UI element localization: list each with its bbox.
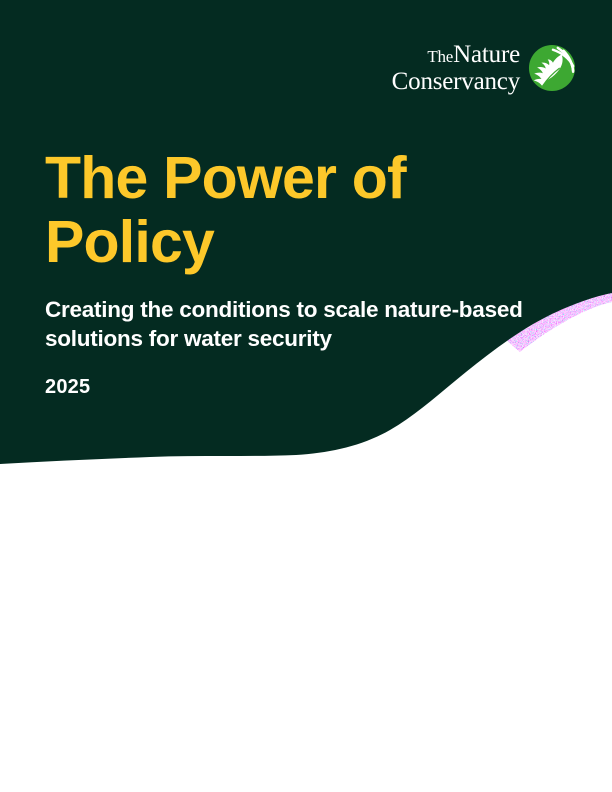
tnc-logo-the: The [427,47,453,66]
publication-year: 2025 [45,353,565,399]
document-cover-page: TheNature Conservancy The Power of Polic… [0,0,612,792]
page-subtitle: Creating the conditions to scale nature-… [45,274,557,353]
tnc-logo-conservancy: Conservancy [392,69,520,95]
tnc-logo-line-1: TheNature [392,42,520,69]
tnc-logo-nature: Nature [453,41,520,68]
tnc-logo-wordmark: TheNature Conservancy [392,42,520,95]
page-title: The Power of Policy [45,146,565,274]
tnc-logo: TheNature Conservancy [404,41,576,95]
cover-title-block: The Power of Policy Creating the conditi… [45,146,565,399]
tnc-globe-oak-leaf-icon [528,44,576,92]
